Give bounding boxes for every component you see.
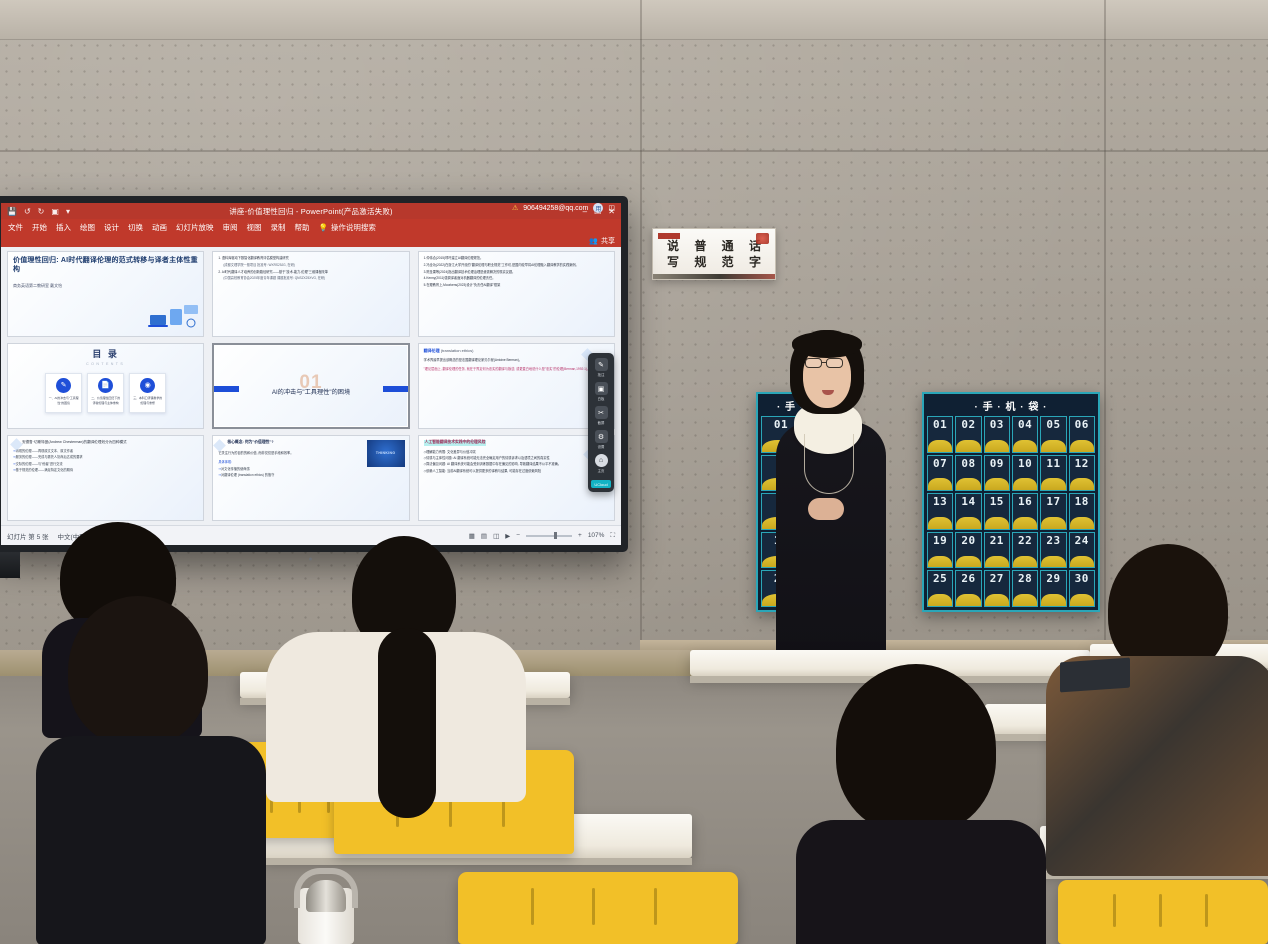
pocket[interactable]: 18 [1069,493,1095,530]
slide-9-item: ◇情感与主体性问题: AI 翻译系统可能无法完全确定用户的情感诉求以及语境之间的… [424,456,609,461]
slide-3-ref-5: 5.在理教育上,Moorkens(2023)设计"负责任AI翻译"框架 [424,283,609,288]
tell-me-search[interactable]: 💡 操作说明搜索 [319,222,376,233]
slide-thumbnail-9[interactable]: 人工智能翻译技术实践中的伦理风险 ◇理解能力有限: 文化差异与价值冲突 ◇情感与… [418,435,615,521]
student [266,536,526,786]
slide-8-item: ➞对文化传播的使命感 [218,467,403,472]
slide-2-line-2: (成都文理学院一般项目 批准号: WXRS25JG, 在研) [218,263,403,268]
zoom-slider[interactable] [526,535,572,537]
toolbar-label: 主页 [598,468,605,473]
pocket[interactable]: 20 [955,532,981,569]
presenter [760,330,900,660]
thinking-label: THINKING [376,451,396,456]
tell-me-label: 操作说明搜索 [331,222,376,233]
pocket[interactable]: 13 [927,493,953,530]
pocket[interactable]: 17 [1040,493,1066,530]
slide-7-item: ➞交际的伦理——与"他者"进行交流 [13,462,198,467]
capture-icon[interactable]: ✂ [595,406,608,419]
pocket[interactable]: 08 [955,455,981,492]
pocket[interactable]: 02 [955,416,981,453]
toolbar-label: 批注 [598,372,605,377]
save-icon[interactable]: 💾 [7,207,17,216]
present-icon[interactable]: ▣ [51,207,59,216]
student [800,664,1030,944]
student [46,596,256,944]
slide-grid: 价值理性回归: AI时代翻译伦理的范式转移与译者主体性重构 商务英语第二教研室 … [1,247,621,525]
presenter-necklace [804,434,854,494]
slide-7-number: 7 [12,520,16,521]
slide-thumbnail-8[interactable]: THINKING 核心概念: 何为"价值理性"? 它关注行为的目的的和价值, 而… [212,435,409,521]
sign-line-1: 说 普 通 话 [661,238,767,254]
slide-9-item: ◇理解能力有限: 文化差异与价值冲突 [424,450,609,455]
warning-icon: ⚠ [512,204,518,212]
slide-6-quote: "理论层面上, 翻译伦理的任务, 就在于界定何为忠实的翻译与叛逆, 或更直白地说… [424,367,609,372]
slide-7-list: ➞再现的伦理——再现原文文本、原文作者 ➞服务的伦理——完成与委托人协商后达成的… [13,449,198,472]
ribbon-tab-review[interactable]: 审阅 [223,222,238,233]
slide-thumbnail-6[interactable]: 翻译伦理 (translation ethics) 学术界最早提出该概念的是法国… [418,343,615,429]
slide-1-subtitle: 商务英语第二教研室 戴文怡 [13,283,198,289]
toolbar-label: 设置 [598,444,605,449]
slide-6-heading-cn: 翻译伦理 [424,348,440,353]
slide-4-cards: ✎ 一、AI的冲击与"工具理性"的困境 📄 二、价值理性回归下的译者伦理与主体重… [13,373,198,413]
toolbar-item-capture[interactable]: ✂ 截屏 [595,406,608,425]
pocket[interactable]: 26 [955,570,981,607]
pocket[interactable]: 14 [955,493,981,530]
pocket[interactable]: 01 [927,416,953,453]
ribbon-tab-insert[interactable]: 插入 [56,222,71,233]
toolbar-item-home[interactable]: ⌂ 主页 [595,454,608,473]
slide-8-item: ➞对翻译伦理 (translation ethics) 的恪守 [218,473,403,478]
slide-6-heading-en: (translation ethics) [441,348,474,353]
quick-access-toolbar[interactable]: 💾 ↺ ↻ ▣ ▾ [7,207,70,216]
sign-footer-bar [653,274,775,279]
slide-7-item: ➞服务的伦理——完成与委托人协商后达成的要求 [13,455,198,460]
ceiling [0,0,1268,40]
ribbon-tab-design[interactable]: 设计 [104,222,119,233]
toolbar-item-annotate[interactable]: ✎ 批注 [595,358,608,377]
slide-8-body: 它关注行为的目的的和价值, 而非仅仅是手段和效率。 [218,451,333,456]
ribbon-tab-file[interactable]: 文件 [8,222,23,233]
account-area[interactable]: ⚠ 906494258@qq.com 用 ◫ [512,203,615,213]
slide-6-body: 学术界最早提出该概念的是法国翻译理论家贝尔曼(Antoine Berman)。 [424,358,609,363]
glasses-lens-right [826,358,843,368]
pocket[interactable]: 04 [1012,416,1038,453]
pocket[interactable]: 15 [984,493,1010,530]
slide-5-content: 01 AI的冲击与"工具理性"的困境 [214,345,407,427]
slide-2-line-3: 2. AI时代翻译人才培养的创新路径研究——基于"技术-能力-伦理"三维课程改革 [218,270,403,275]
target-circle-icon: ◉ [140,378,155,393]
share-icon: 👥 [589,237,598,245]
slide-3-ref-3: 3.陈圣果等(2024)指出翻译技术伦理治理是亟需解决的现实议题。 [424,270,609,275]
slide-5-number: 5 [218,427,222,429]
slide-3-ref-2: 2.冯全功(2022)在浙江大学开设的"翻译伦理与职业规范"工作坊,是国内较早将… [424,263,609,268]
contents-card: ✎ 一、AI的冲击与"工具理性"的困境 [45,373,82,413]
board-right-header: · 手 · 机 · 袋 · [927,397,1095,414]
share-button[interactable]: 👥 共享 [589,236,615,246]
slide-4-number: 4 [12,428,16,429]
pocket[interactable]: 27 [984,570,1010,607]
slide-thumbnail-3[interactable]: 1.仲伟合(2015)呼吁建立AI翻译伦理规范。 2.冯全功(2022)在浙江大… [418,251,615,337]
contents-card-text: 三、本科口译课教学的伦理与重塑 [130,396,165,405]
ribbon-tab-draw[interactable]: 绘图 [80,222,95,233]
undo-icon[interactable]: ↺ [24,207,31,216]
pocket[interactable]: 09 [984,455,1010,492]
more-icon[interactable]: ▾ [66,207,70,216]
ribbon-tab-transitions[interactable]: 切换 [128,222,143,233]
chair[interactable] [458,872,738,944]
lightbulb-icon: 💡 [319,223,328,232]
student [1046,544,1266,844]
presenter-hands [808,498,844,520]
pocket[interactable]: 19 [927,532,953,569]
redo-icon[interactable]: ↻ [38,207,45,216]
slide-2-line-4: (中国高校教育协会2025年度青年课题 课题批准号: QNSZX25XVG, 在… [218,276,403,281]
contents-card-text: 二、价值理性回归下的译者伦理与主体重构 [88,396,123,405]
whiteboard-stand [0,552,20,578]
slide-5-title: AI的冲击与"工具理性"的困境 [236,388,387,397]
toolbar-item-whiteboard[interactable]: ▣ 白板 [595,382,608,401]
ribbon-tab-view[interactable]: 视图 [247,222,262,233]
doc-circle-icon: 📄 [98,378,113,393]
pocket[interactable]: 16 [1012,493,1038,530]
slide-thumbnail-7[interactable]: 安德鲁·切斯特曼(Andrew Chesterman)的翻译伦理划分为四种模式 … [7,435,204,521]
settings-icon[interactable]: ⚙ [595,430,608,443]
ucloud-button[interactable]: UCloud [591,480,610,488]
slide-9-number: 9 [423,520,427,521]
slide-4-title: 目 录 [13,348,198,361]
pen-icon[interactable]: ✎ [595,358,608,371]
slide-thumbnail-2[interactable]: 1. 语料库驱动下数智化翻译教育评估模型构建研究 (成都文理学院一般项目 批准号… [212,251,409,337]
account-email[interactable]: 906494258@qq.com [523,205,588,212]
slide-thumbnail-5-selected[interactable]: 01 AI的冲击与"工具理性"的困境 5 [212,343,409,429]
avatar[interactable]: 用 [593,203,603,213]
toolbar-item-settings[interactable]: ⚙ 设置 [595,430,608,449]
toolbar-label: 白板 [598,396,605,401]
slide-9-list: ◇理解能力有限: 文化差异与价值冲突 ◇情感与主体性问题: AI 翻译系统可能无… [424,450,609,474]
home-icon[interactable]: ⌂ [595,454,608,467]
contents-card-text: 一、AI的冲击与"工具理性"的困境 [46,396,81,405]
fit-slide-icon[interactable]: ⛶ [610,532,615,540]
interactive-whiteboard[interactable]: 💾 ↺ ↻ ▣ ▾ 讲座-价值理性回归 - PowerPoint(产品激活失败)… [0,196,628,552]
slide-7-item: ➞再现的伦理——再现原文文本、原文作者 [13,449,198,454]
glasses-bridge [822,362,827,363]
slide-4-subtitle: CONTENTS [13,362,198,367]
ribbon-tab-home[interactable]: 开始 [32,222,47,233]
pocket[interactable]: 25 [927,570,953,607]
slide-3-number: 3 [423,336,427,337]
pocket[interactable]: 22 [1012,532,1038,569]
pocket[interactable]: 21 [984,532,1010,569]
pocket[interactable]: 06 [1069,416,1095,453]
thermos-handle [294,868,358,908]
ribbon-display-icon[interactable]: ◫ [608,204,615,212]
slide-9-heading: 人工智能翻译技术实践中的伦理风险 [424,440,487,446]
slide-6-number: 6 [423,428,427,429]
pocket[interactable]: 12 [1069,455,1095,492]
slide-1-number: 1 [12,336,16,337]
zoom-in-button[interactable]: + [578,532,582,539]
contents-card: 📄 二、价值理性回归下的译者伦理与主体重构 [87,373,124,413]
sign-line-2: 写 规 范 字 [661,254,767,270]
slide-9-item: ◇依赖人工智能: 当前AI翻译系统可以提供更多的译稿与结果, 可能存在过度依赖风… [424,469,609,474]
whiteboard-screen[interactable]: 💾 ↺ ↻ ▣ ▾ 讲座-价值理性回归 - PowerPoint(产品激活失败)… [1,203,621,545]
slide-9-item: ◇算法偏见问题: AI 翻译系统可能会受到训练数据中存在偏见的影响, 导致翻译结… [424,462,609,467]
slide-1-title: 价值理性回归: AI时代翻译伦理的范式转移与译者主体性重构 [13,256,198,274]
slide-thumbnail-4[interactable]: 目 录 CONTENTS ✎ 一、AI的冲击与"工具理性"的困境 📄 二、价值理… [7,343,204,429]
thermos-bottle [290,862,362,944]
pocket[interactable]: 07 [927,455,953,492]
presenter-fringe [792,332,862,358]
slide-7-item: ➞基于规范的伦理——满足特定文化的期待 [13,468,198,473]
slide-8-number: 8 [217,520,221,521]
floating-annotation-toolbar[interactable]: ✎ 批注 ▣ 白板 ✂ 截屏 ⚙ 设置 ⌂ 主页 [588,353,614,492]
pocket[interactable]: 05 [1040,416,1066,453]
student-ponytail [378,628,436,818]
zoom-level[interactable]: 107% [588,532,605,539]
ribbon-tab-help[interactable]: 帮助 [295,222,310,233]
slide-3-ref-4: 4.Kenny(2011)强调译者面对机器翻译的伦理责任。 [424,276,609,281]
pen-circle-icon: ✎ [56,378,71,393]
pocket[interactable]: 11 [1040,455,1066,492]
slide-2-line-1: 1. 语料库驱动下数智化翻译教育评估模型构建研究 [218,256,403,261]
zoom-slider-knob[interactable] [554,532,557,539]
laptop [1060,658,1130,693]
share-label: 共享 [601,236,615,246]
classroom-scene: 说 普 通 话 写 规 范 字 · 手 · 袋 · 0106 12 18 192… [0,0,1268,944]
thinking-graphic: THINKING [367,440,405,467]
wall-seam [0,150,1268,152]
glasses-lens-left [805,358,822,368]
sign-seal-icon [756,233,769,244]
slide-1-illustration [148,303,200,333]
contents-card: ◉ 三、本科口译课教学的伦理与重塑 [129,373,166,413]
ribbon-tab-animations[interactable]: 动画 [152,222,167,233]
pocket[interactable]: 10 [1012,455,1038,492]
pocket-row: 070809101112 [927,455,1095,492]
ribbon-subbar: 👥 共享 [1,235,621,247]
slide-3-ref-1: 1.仲伟合(2015)呼吁建立AI翻译伦理规范。 [424,256,609,261]
ribbon-tab-record[interactable]: 录制 [271,222,286,233]
pocket-row: 010203040506 [927,416,1095,453]
ribbon-tabs[interactable]: 文件 开始 插入 绘图 设计 切换 动画 幻灯片放映 审阅 视图 录制 帮助 💡… [1,219,621,235]
slide-thumbnail-1[interactable]: 价值理性回归: AI时代翻译伦理的范式转移与译者主体性重构 商务英语第二教研室 … [7,251,204,337]
pocket[interactable]: 28 [1012,570,1038,607]
slide-7-heading: 安德鲁·切斯特曼(Andrew Chesterman)的翻译伦理划分为四种模式 [22,440,198,445]
ribbon-tab-slideshow[interactable]: 幻灯片放映 [176,222,214,233]
sign-badge [658,233,680,239]
pocket-row: 131415161718 [927,493,1095,530]
toolbar-label: 截屏 [598,420,605,425]
slide-2-number: 2 [217,336,221,337]
wall-sign: 说 普 通 话 写 规 范 字 [652,228,776,280]
screen-icon[interactable]: ▣ [595,382,608,395]
chair[interactable] [1058,880,1268,944]
pocket[interactable]: 03 [984,416,1010,453]
